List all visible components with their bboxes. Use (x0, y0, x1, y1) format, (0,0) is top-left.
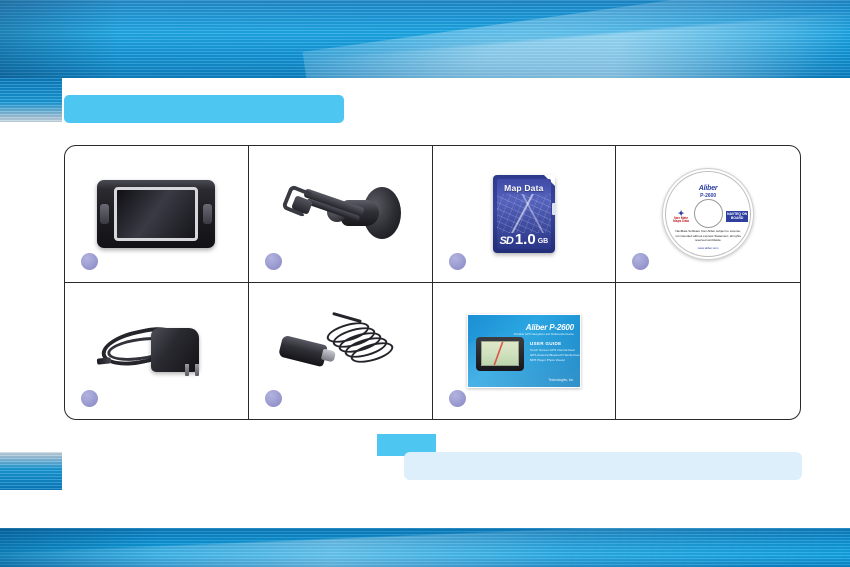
software-cd-image: Aliber P-2600 ✦ Nav Mate Maps Data NAVTE… (662, 168, 754, 260)
table-cell-car-charger (249, 283, 433, 420)
book-device-map-screen (481, 341, 519, 366)
book-brand-name: Aliber (526, 323, 547, 332)
top-banner (0, 0, 850, 78)
charger-coiled-cable (326, 320, 402, 366)
charger-plug-body (278, 335, 328, 367)
item-bullet-2 (265, 253, 282, 270)
left-blue-stripe-top (0, 78, 62, 122)
item-bullet-6 (265, 390, 282, 407)
cd-navteq-badge: NAVTEQ ON BOARD (726, 211, 748, 222)
content-sheet-bottom-corner (62, 452, 122, 492)
sd-capacity-value: 1.0 (515, 232, 536, 247)
ac-power-adapter-image (91, 314, 221, 388)
book-footer-text: Technologies, Inc. (548, 378, 574, 382)
item-bullet-5 (81, 390, 98, 407)
item-bullet-3 (449, 253, 466, 270)
table-cell-ac-adapter (65, 283, 249, 420)
cd-model-text: P-2600 (663, 193, 753, 199)
sd-card-map-graphic (497, 194, 551, 233)
table-cell-suction-mount (249, 146, 433, 283)
user-guide-image: Aliber P-2600 Portable GPS Navigation an… (467, 314, 581, 388)
cd-brand-text: Aliber (663, 185, 753, 192)
table-cell-software-cd: Aliber P-2600 ✦ Nav Mate Maps Data NAVTE… (616, 146, 800, 283)
left-blue-stripe-bottom (0, 452, 62, 490)
table-cell-sd-card: Map Data SD 1.0 GB (433, 146, 617, 283)
adapter-dc-tip (97, 357, 112, 364)
item-bullet-7 (449, 390, 466, 407)
page-title (64, 95, 344, 123)
navigation-device-image (97, 180, 215, 248)
sd-logo-text: SD (500, 236, 513, 247)
car-charger-image (270, 314, 410, 388)
sd-card-face: Map Data SD 1.0 GB (497, 179, 551, 249)
sd-card-spec-row: SD 1.0 GB (497, 232, 551, 247)
device-screen (114, 187, 198, 241)
book-device-photo (476, 337, 524, 371)
book-model-name: P-2600 (549, 323, 574, 332)
book-brand-text: Aliber P-2600 (526, 323, 574, 332)
package-contents-table: Map Data SD 1.0 GB Aliber P-2600 ✦ (64, 145, 801, 420)
sd-memory-card-image: Map Data SD 1.0 GB (493, 175, 555, 253)
table-cell-navigation-device (65, 146, 249, 283)
cd-partner-logo: ✦ Nav Mate Maps Data (670, 212, 692, 224)
bottom-banner (0, 528, 850, 567)
cd-url-text: www.aliber.com (663, 246, 753, 250)
sd-capacity-unit: GB (538, 236, 549, 247)
suction-cup-mount-image (275, 174, 405, 254)
cd-partner-logo-text: Nav Mate Maps Data (673, 216, 689, 224)
item-bullet-1 (81, 253, 98, 270)
cd-fine-print: NavMate Software from Aliber subject to … (673, 229, 743, 243)
item-bullet-4 (632, 253, 649, 270)
book-heading: USER GUIDE (530, 341, 562, 346)
table-cell-user-guide: Aliber P-2600 Portable GPS Navigation an… (433, 283, 617, 420)
manual-page: Map Data SD 1.0 GB Aliber P-2600 ✦ (0, 0, 850, 567)
book-subtitle: Portable GPS Navigation and Multimedia D… (514, 332, 574, 336)
note-body (404, 452, 802, 480)
table-cell-empty (616, 283, 800, 420)
sd-card-title: Map Data (504, 183, 543, 193)
adapter-wall-prongs (183, 364, 203, 376)
book-feature-list: Touch Screen GPS Internal Dual GPS Anten… (530, 348, 580, 363)
